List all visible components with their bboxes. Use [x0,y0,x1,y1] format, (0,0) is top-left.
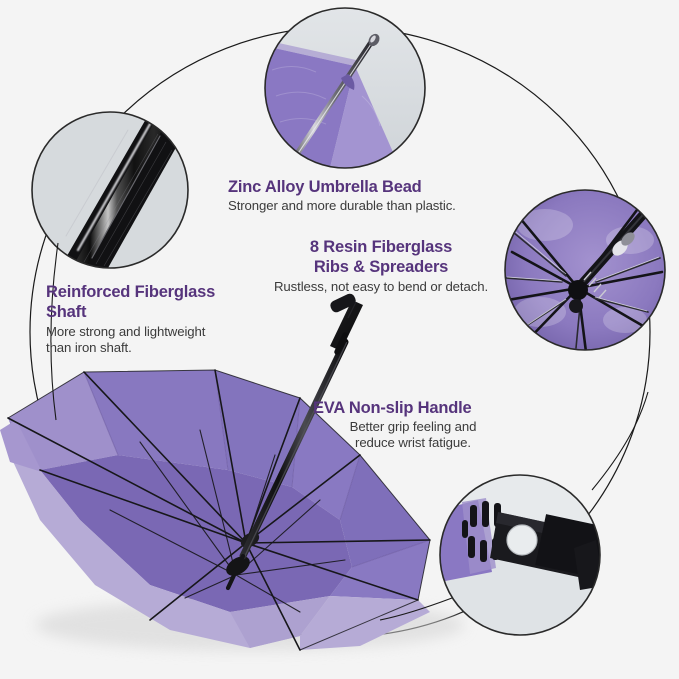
ribs-spreaders-closeup-photo [505,190,665,352]
callout-zinc-alloy-umbrella-bead: Zinc Alloy Umbrella Bead Stronger and mo… [228,178,498,214]
callout-subtext-ribs: Rustless, not easy to bend or detach. [255,279,507,295]
callout-subtext-shaft-line2: than iron shaft. [46,340,266,356]
umbrella-bead-closeup-photo [265,8,425,168]
callout-heading-shaft-line1: Reinforced Fiberglass [46,283,266,301]
infographic-canvas: Zinc Alloy Umbrella Bead Stronger and mo… [0,0,679,679]
callout-heading-shaft-line2: Shaft [46,303,266,321]
callout-heading-bead: Zinc Alloy Umbrella Bead [228,178,498,196]
callout-subtext-handle-line2: reduce wrist fatigue. [313,435,513,451]
callout-heading-ribs-line2: Ribs & Spreaders [255,258,507,276]
callout-resin-fiberglass-ribs: 8 Resin Fiberglass Ribs & Spreaders Rust… [255,238,507,295]
callout-heading-handle: EVA Non-slip Handle [313,399,513,417]
callout-reinforced-fiberglass-shaft: Reinforced Fiberglass Shaft More strong … [46,283,266,356]
callout-eva-non-slip-handle: EVA Non-slip Handle Better grip feeling … [313,399,513,451]
callout-subtext-bead: Stronger and more durable than plastic. [228,198,498,214]
callout-heading-ribs-line1: 8 Resin Fiberglass [255,238,507,256]
callout-subtext-handle-line1: Better grip feeling and [313,419,513,435]
callout-subtext-shaft-line1: More strong and lightweight [46,324,266,340]
